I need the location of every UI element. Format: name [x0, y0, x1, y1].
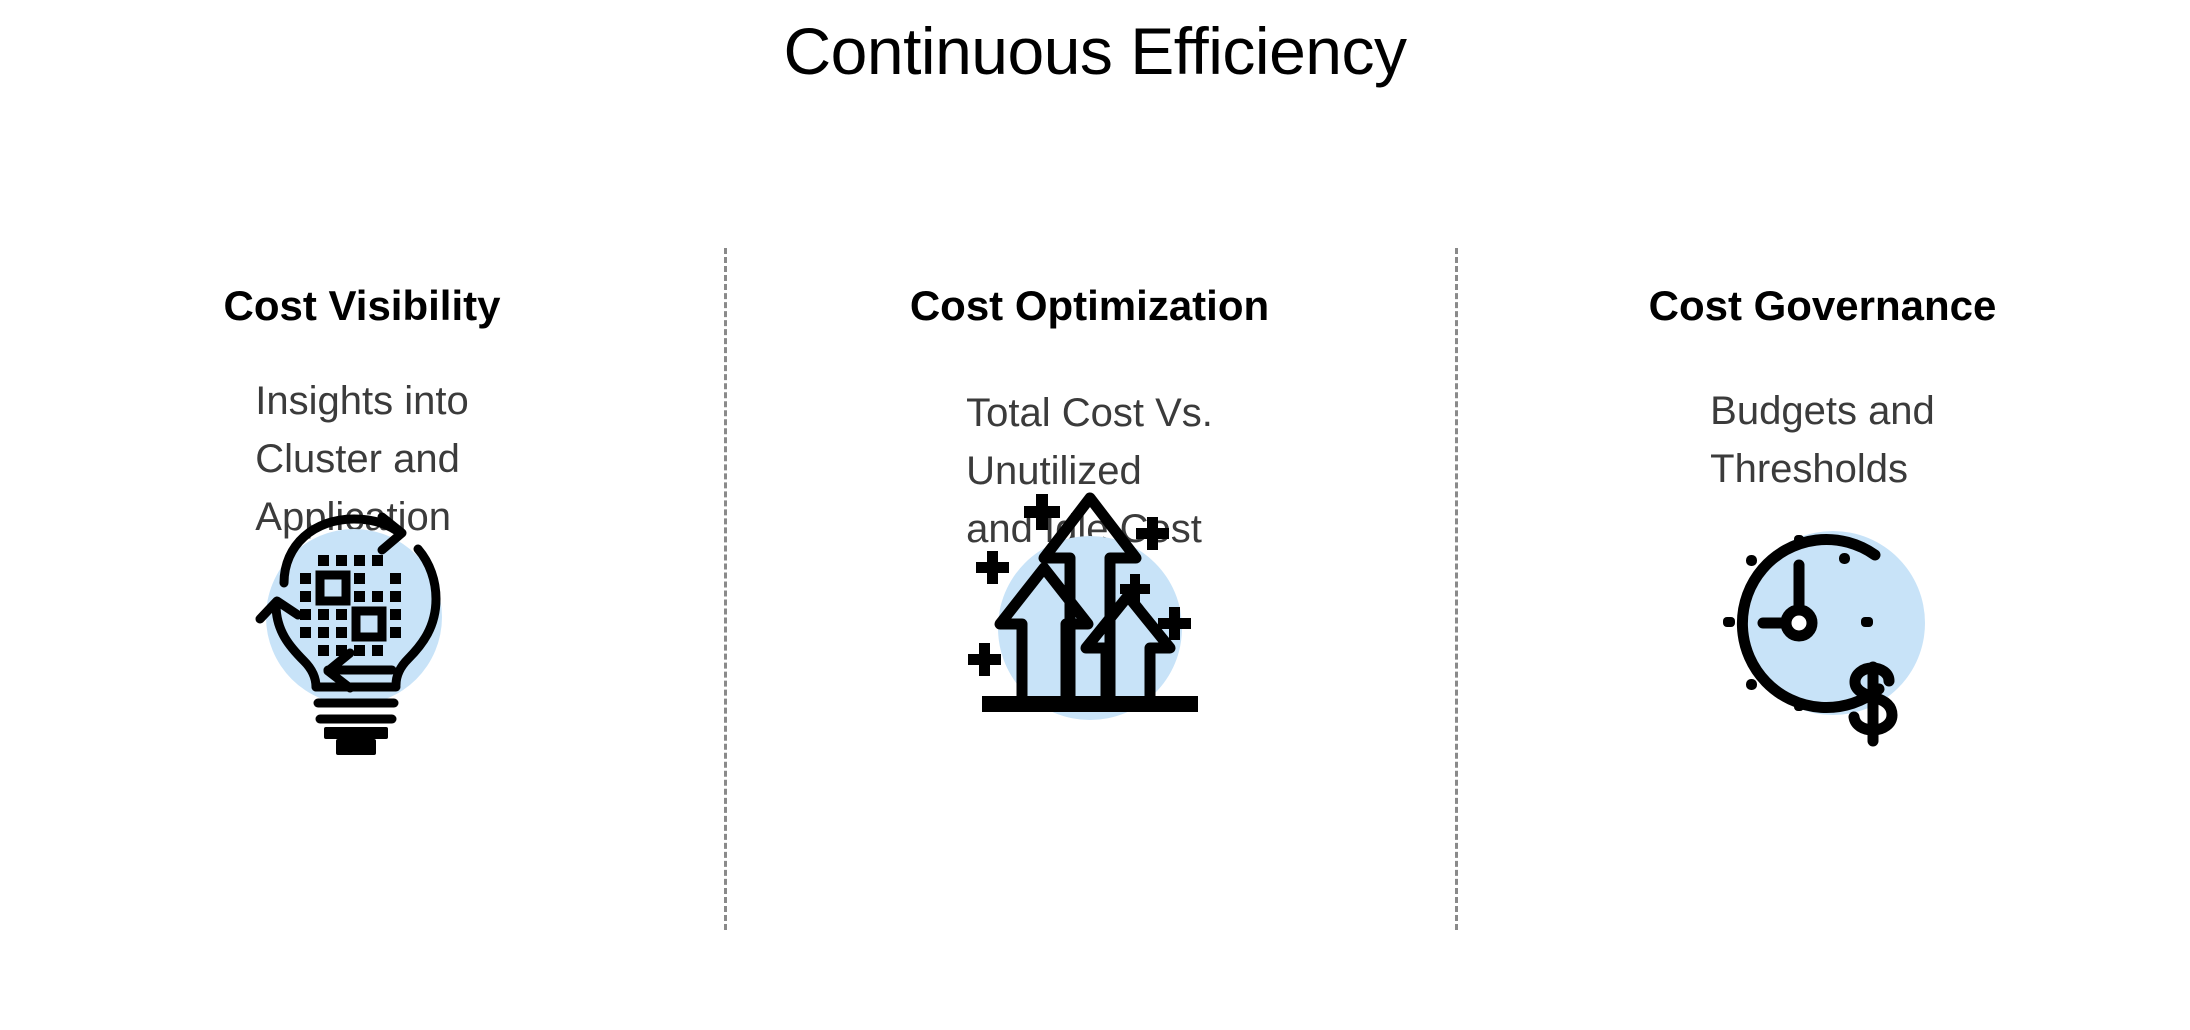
body-line: Thresholds [1710, 440, 1935, 498]
body-line: Budgets and [1710, 382, 1935, 440]
lightbulb-refresh-chip-icon [232, 495, 492, 765]
columns-container: Cost Visibility Insights into Cluster an… [0, 240, 2190, 970]
slide-root: Continuous Efficiency Cost Visibility In… [0, 0, 2190, 1030]
column-icon-wrap [724, 478, 1455, 748]
divider-left [724, 248, 727, 930]
column-icon-wrap [0, 495, 724, 765]
column-cost-governance: Cost Governance Budgets and Thresholds [1455, 240, 2190, 970]
body-line: Total Cost Vs. [966, 384, 1213, 442]
column-cost-optimization: Cost Optimization Total Cost Vs. Unutili… [724, 240, 1455, 970]
column-body-text: Budgets and Thresholds [1455, 382, 2190, 498]
growth-arrows-icon [960, 478, 1220, 748]
column-heading: Cost Governance [1455, 282, 2190, 330]
column-heading: Cost Optimization [724, 282, 1455, 330]
page-title: Continuous Efficiency [0, 14, 2190, 90]
body-line: Insights into [255, 372, 468, 430]
body-line: Cluster and [255, 430, 468, 488]
column-cost-visibility: Cost Visibility Insights into Cluster an… [0, 240, 724, 970]
clock-dollar-icon [1693, 493, 1953, 763]
column-icon-wrap [1455, 493, 2190, 763]
divider-right [1455, 248, 1458, 930]
column-heading: Cost Visibility [0, 282, 724, 330]
